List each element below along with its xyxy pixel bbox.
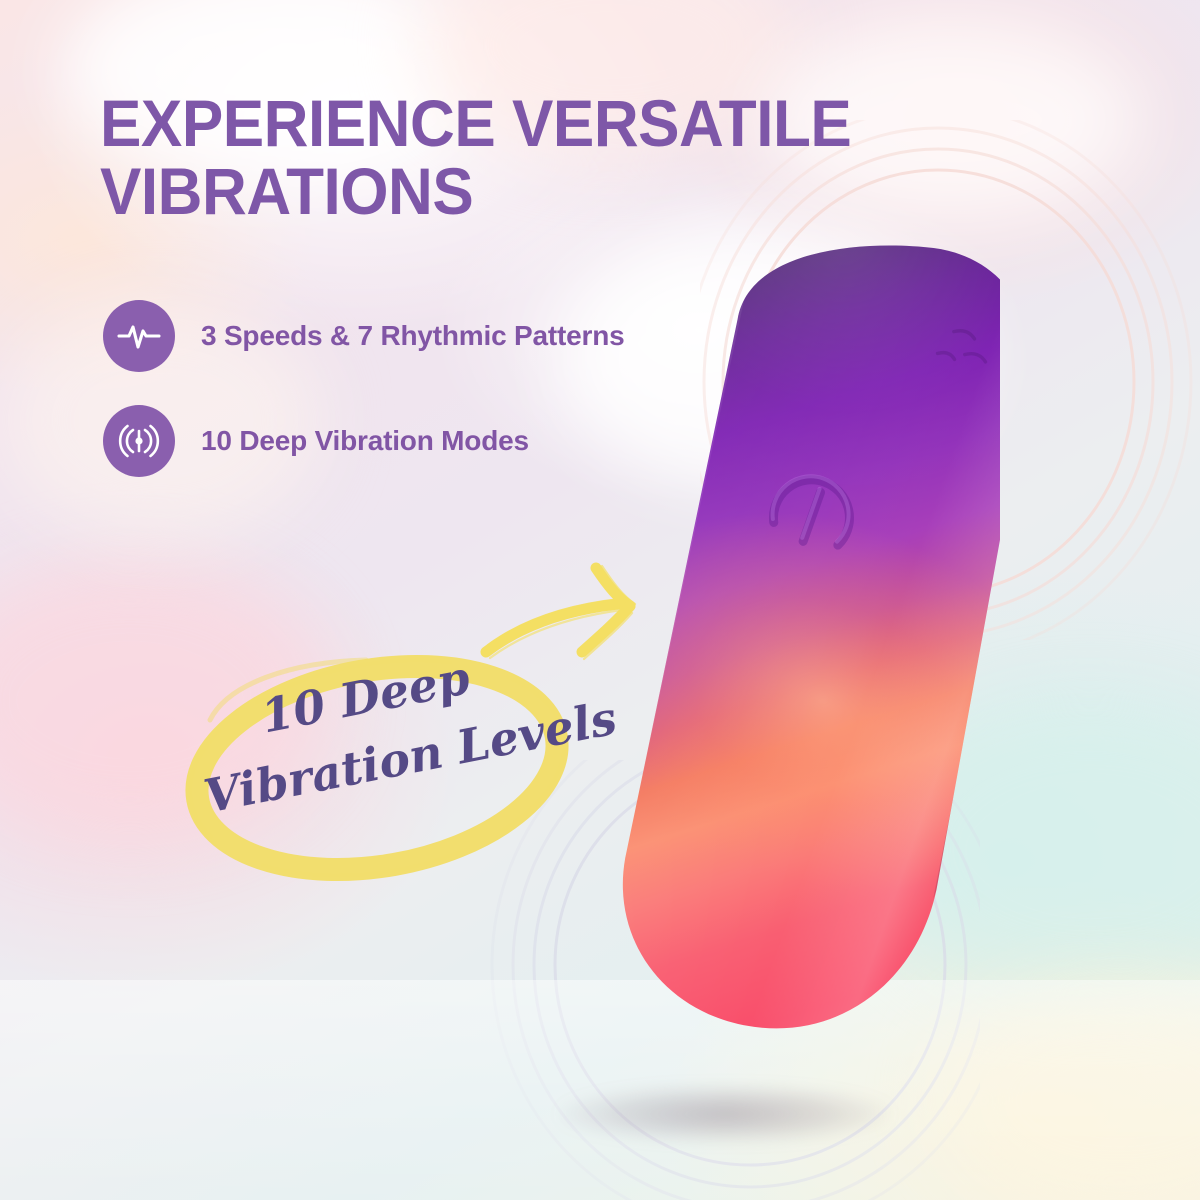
product-shadow bbox=[560, 1085, 890, 1143]
feature-item-modes: 10 Deep Vibration Modes bbox=[103, 405, 529, 477]
feature-label-speeds: 3 Speeds & 7 Rhythmic Patterns bbox=[201, 320, 624, 352]
headline-line-2: VIBRATIONS bbox=[100, 158, 946, 226]
page-title: EXPERIENCE VERSATILE VIBRATIONS bbox=[100, 90, 946, 226]
cloud-blob-right-low bbox=[880, 700, 1200, 1000]
product-feature-banner: EXPERIENCE VERSATILE VIBRATIONS 3 Speeds… bbox=[0, 0, 1200, 1200]
feature-item-speeds: 3 Speeds & 7 Rhythmic Patterns bbox=[103, 300, 624, 372]
pulse-wave-icon bbox=[103, 300, 175, 372]
vibration-waves-icon bbox=[103, 405, 175, 477]
headline-line-1: EXPERIENCE VERSATILE bbox=[100, 90, 946, 158]
feature-label-modes: 10 Deep Vibration Modes bbox=[201, 425, 529, 457]
cloud-blob-bottom-right bbox=[940, 980, 1200, 1200]
